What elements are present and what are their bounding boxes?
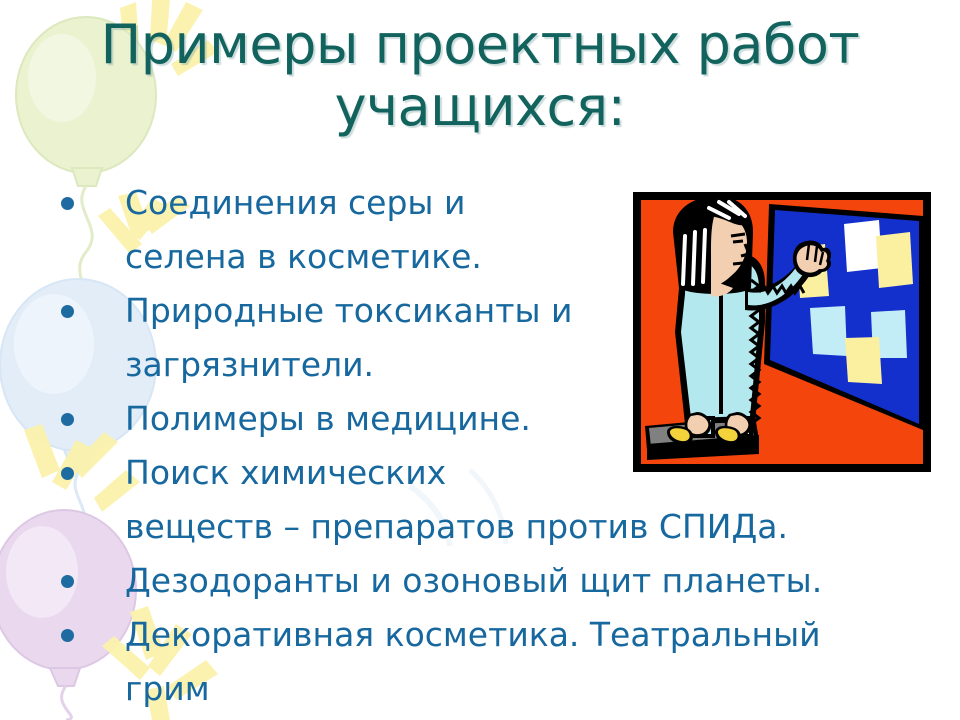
note-4 bbox=[810, 306, 847, 356]
bullet-text: селена в косметике. bbox=[125, 230, 482, 284]
bullet-dot-icon bbox=[61, 413, 74, 426]
bullet-dot-icon bbox=[61, 305, 74, 318]
bullet-text: грим bbox=[125, 662, 210, 716]
bullet-text: Соединения серы и bbox=[125, 176, 465, 230]
clipart-student-pinning-notes bbox=[633, 192, 931, 472]
bullet-dot-icon bbox=[61, 575, 74, 588]
bullet-line: веществ – препаратов против СПИДа. bbox=[0, 500, 960, 554]
presentation-slide: Примеры проектных работ учащихся: Соедин… bbox=[0, 0, 960, 720]
bullet-dot-icon bbox=[61, 629, 74, 642]
bullet-text: Поиск химических bbox=[125, 446, 446, 500]
note-3 bbox=[876, 232, 913, 288]
note-6 bbox=[845, 337, 882, 384]
bullet-line: грим bbox=[0, 662, 960, 716]
bullet-text: загрязнители. bbox=[125, 338, 374, 392]
bullet-dot-icon bbox=[61, 197, 74, 210]
bullet-line: Дезодоранты и озоновый щит планеты. bbox=[0, 554, 960, 608]
bullet-text: Полимеры в медицине. bbox=[125, 392, 531, 446]
bullet-dot-icon bbox=[61, 467, 74, 480]
bullet-text: Природные токсиканты и bbox=[125, 284, 572, 338]
list-item[interactable]: Декоративная косметика. Театральный грим bbox=[0, 608, 960, 716]
bullet-line: Декоративная косметика. Театральный bbox=[0, 608, 960, 662]
bullet-text: Декоративная косметика. Театральный bbox=[125, 608, 821, 662]
list-item[interactable]: Дезодоранты и озоновый щит планеты. bbox=[0, 554, 960, 608]
slide-title: Примеры проектных работ учащихся: bbox=[40, 14, 920, 138]
note-2 bbox=[844, 220, 882, 272]
bullet-text: веществ – препаратов против СПИДа. bbox=[125, 500, 788, 554]
bullet-text: Дезодоранты и озоновый щит планеты. bbox=[125, 554, 822, 608]
